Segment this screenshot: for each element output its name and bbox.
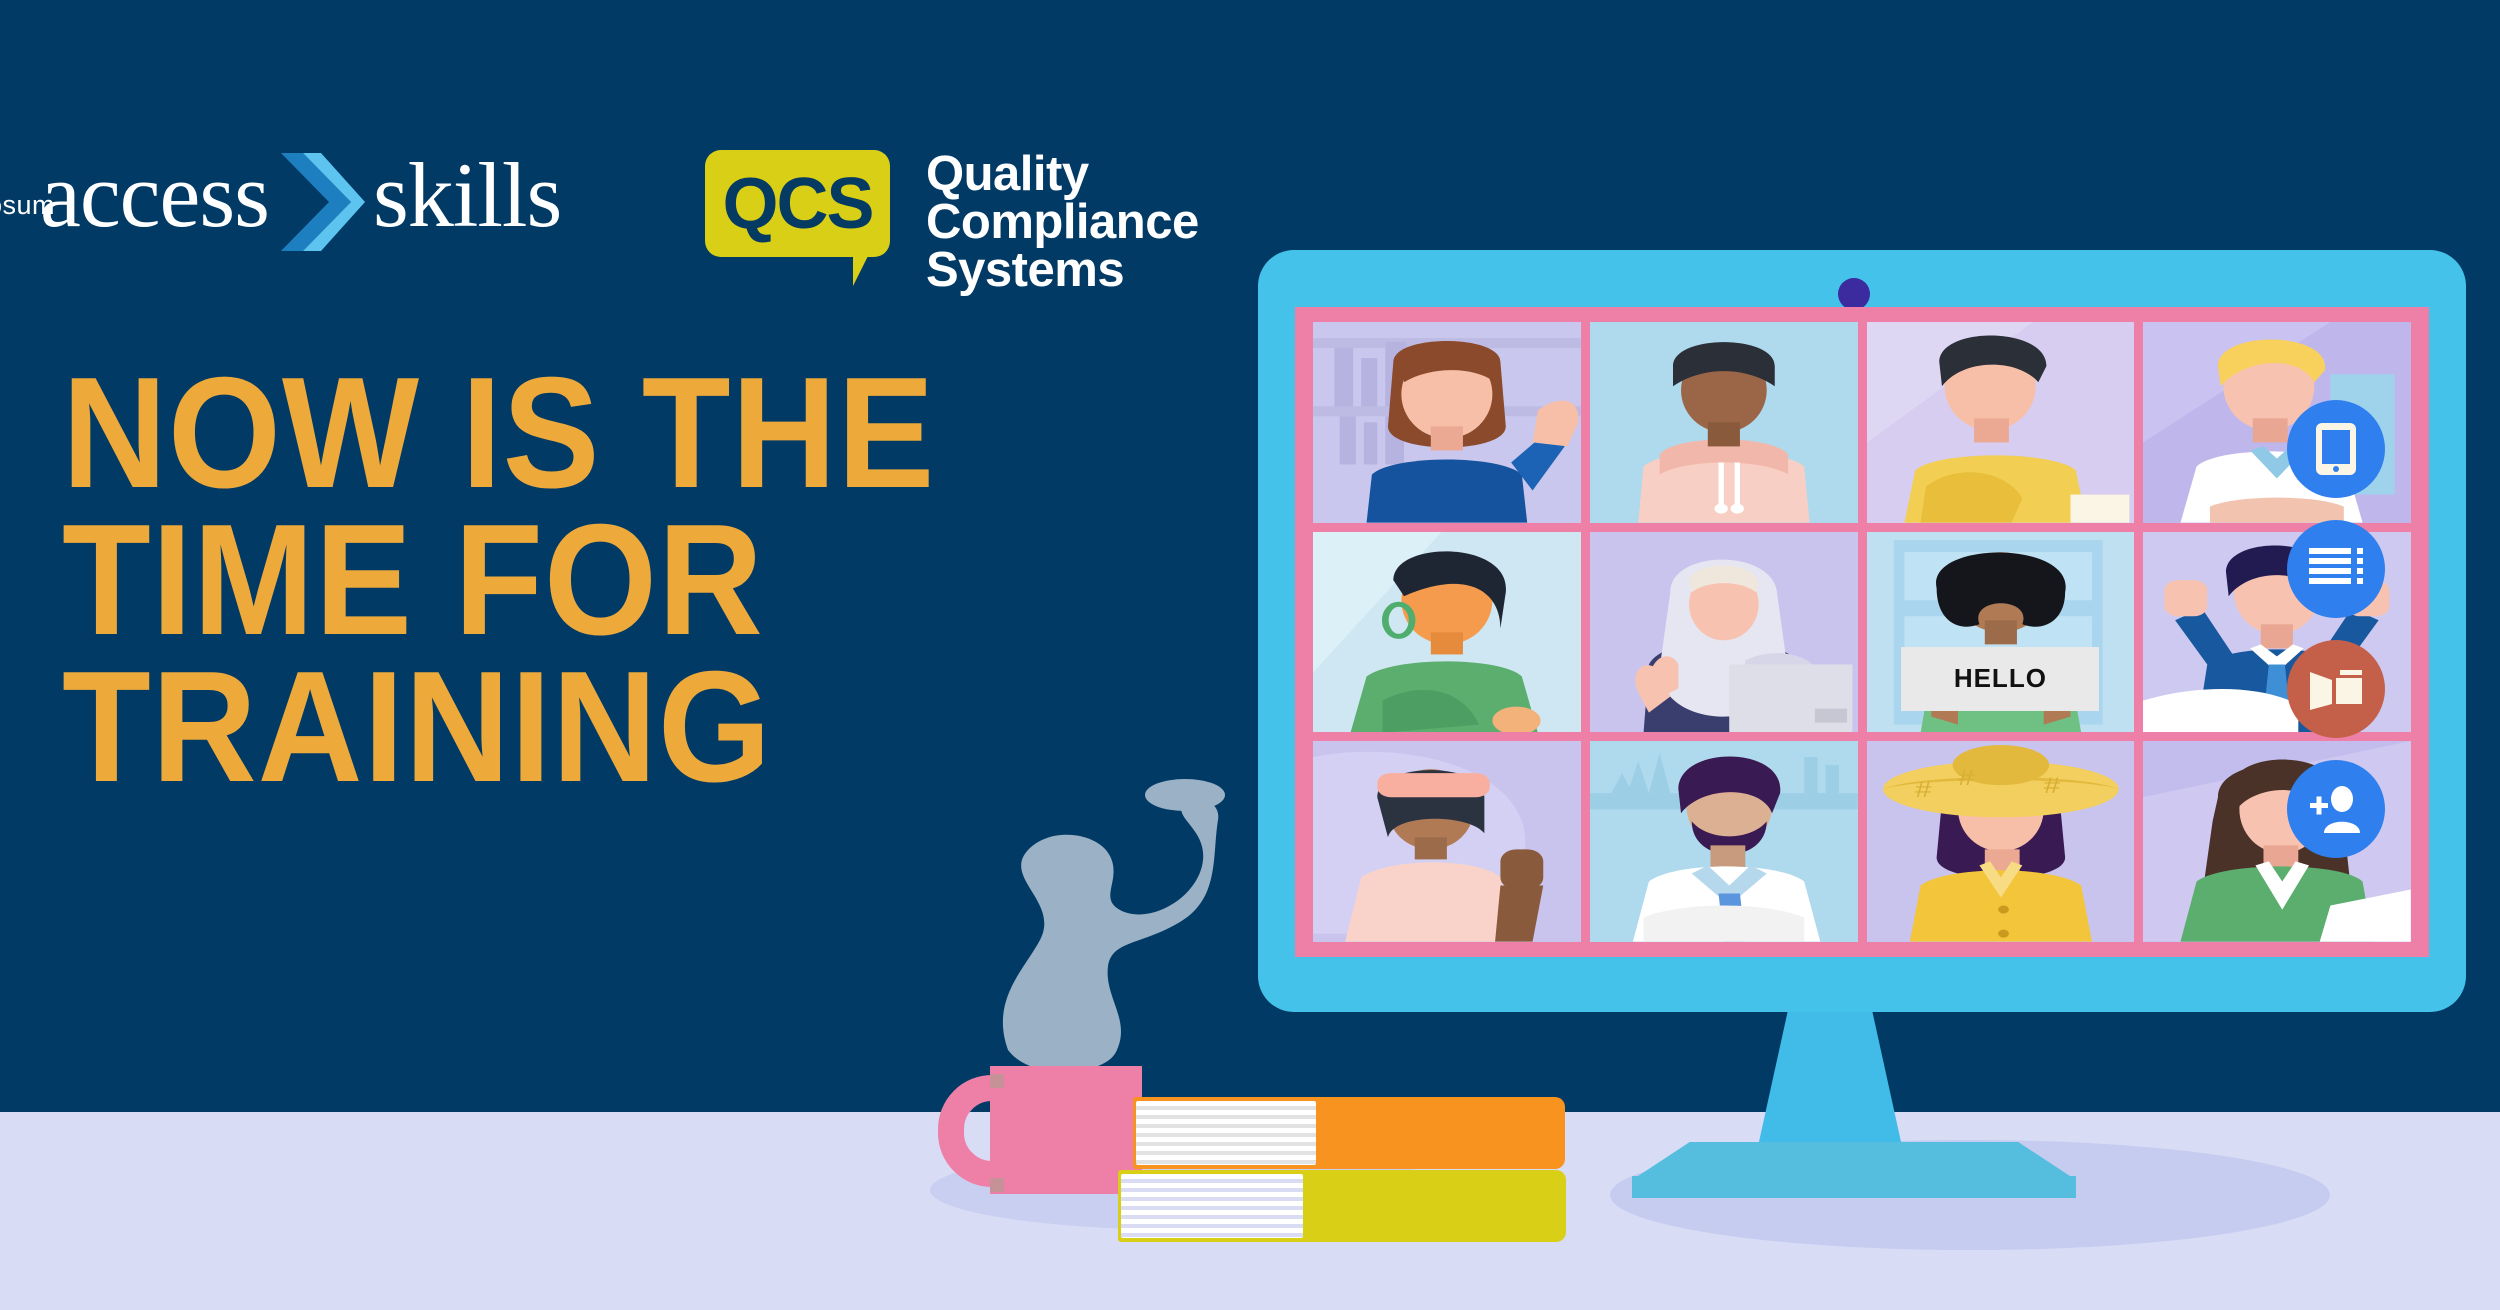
- camera-dot-icon: [1838, 278, 1870, 310]
- monitor-stand-neck: [1755, 1010, 1905, 1160]
- list-lines-icon: [2307, 545, 2365, 593]
- page-title: NOW IS THE TIME FOR TRAINING: [62, 360, 1166, 801]
- participant-tile[interactable]: [1313, 532, 1581, 733]
- video-call-grid: HELLO: [1313, 322, 2411, 942]
- mug-handle-joint-bottom: [990, 1178, 1004, 1192]
- hello-sign-text: HELLO: [1954, 663, 2047, 694]
- participant-tile[interactable]: [1590, 532, 1858, 733]
- poster-canvas: osum access skills QCS Quality Complianc…: [0, 0, 2500, 1310]
- svg-text:#: #: [2043, 773, 2060, 798]
- mug-handle-joint-top: [990, 1074, 1004, 1088]
- add-person-icon-button[interactable]: [2287, 760, 2385, 858]
- svg-text:#: #: [1915, 777, 1932, 802]
- yellow-book-pages: [1121, 1174, 1303, 1238]
- svg-text:#: #: [1958, 765, 1975, 790]
- participant-tile[interactable]: # # #: [1867, 741, 2135, 942]
- monitor-stand-base-front: [1632, 1176, 2076, 1198]
- headline-line-2: TIME FOR: [62, 507, 1166, 654]
- access-wordmark: access: [40, 149, 269, 241]
- yellow-book: [1118, 1170, 1566, 1242]
- monitor-stand-base: [1632, 1142, 2076, 1180]
- chevron-right-icon: [277, 147, 365, 243]
- qcs-company-name: Quality Compliance Systems: [926, 150, 1199, 294]
- participant-tile[interactable]: [1313, 322, 1581, 523]
- qcs-logo: QCS Quality Compliance Systems: [705, 150, 1199, 294]
- open-book-icon-button[interactable]: [2287, 640, 2385, 738]
- open-book-icon: [2308, 668, 2364, 710]
- access-skills-logo: access skills: [40, 155, 561, 235]
- hello-sign: HELLO: [1901, 647, 2099, 711]
- add-person-icon: [2308, 785, 2364, 833]
- mobile-phone-icon: [2314, 421, 2358, 477]
- participant-tile[interactable]: [1590, 322, 1858, 523]
- qcs-name-line-2: Compliance: [926, 198, 1199, 246]
- mobile-phone-icon-button[interactable]: [2287, 400, 2385, 498]
- participant-tile[interactable]: [1313, 741, 1581, 942]
- orange-book: [1133, 1097, 1565, 1169]
- orange-book-pages: [1136, 1101, 1316, 1165]
- participant-tile[interactable]: [1867, 322, 2135, 523]
- qcs-mark: QCS: [722, 168, 872, 240]
- participant-tile[interactable]: [1590, 741, 1858, 942]
- steam-wisp: [980, 770, 1280, 1085]
- qcs-name-line-3: Systems: [926, 246, 1199, 294]
- skills-wordmark: skills: [373, 149, 561, 241]
- qcs-speech-bubble-icon: QCS: [705, 150, 890, 257]
- screen-sidebar: [2287, 400, 2403, 880]
- qcs-name-line-1: Quality: [926, 150, 1199, 198]
- participant-tile[interactable]: HELLO: [1867, 532, 2135, 733]
- list-lines-icon-button[interactable]: [2287, 520, 2385, 618]
- headline-line-1: NOW IS THE: [62, 360, 1166, 507]
